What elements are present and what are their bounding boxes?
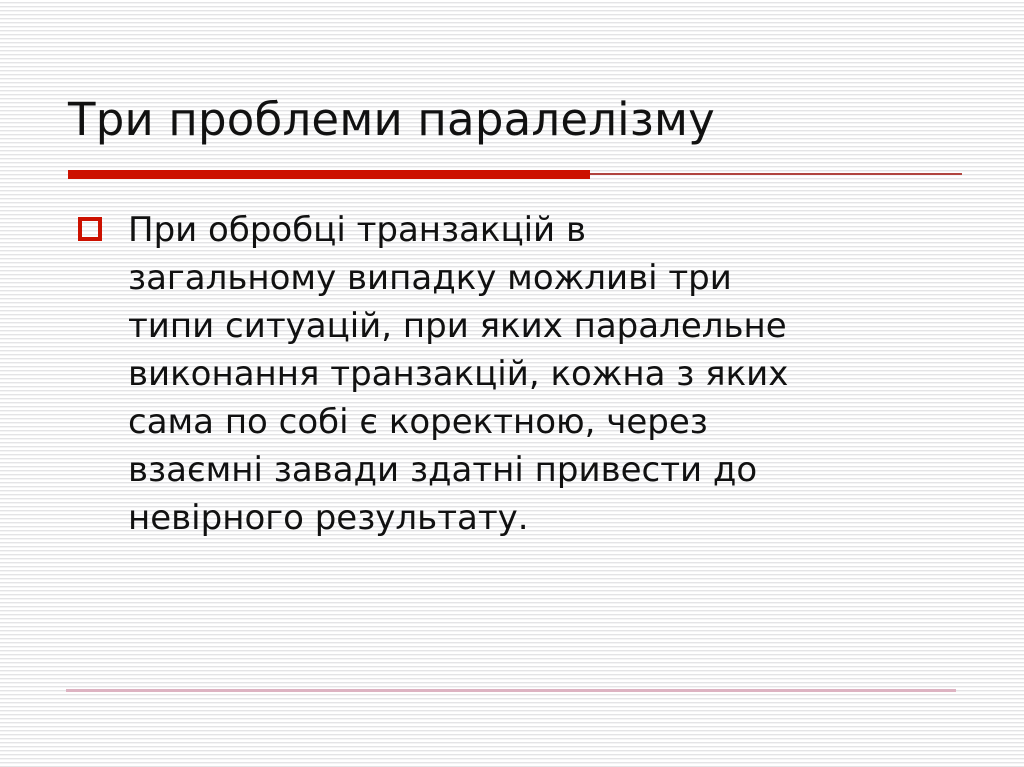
title-rule-thin-segment (590, 173, 962, 175)
title-block: Три проблеми паралелізму (68, 92, 968, 148)
bullet-line: невірного результату. (128, 494, 972, 542)
presentation-slide: Три проблеми паралелізму При обробці тра… (0, 0, 1024, 767)
bullet-line: При обробці транзакцій в (128, 206, 972, 254)
title-rule-thick-segment (68, 170, 590, 179)
bullet-line: типи ситуацій, при яких паралельне (128, 302, 972, 350)
red-square-bullet-icon (78, 217, 102, 241)
bullet-line: загальному випадку можливі три (128, 254, 972, 302)
footer-divider (66, 689, 956, 692)
bullet-paragraph: При обробці транзакцій в загальному випа… (72, 206, 972, 542)
list-item: При обробці транзакцій в загальному випа… (72, 206, 972, 542)
bullet-line: взаємні завади здатні привести до (128, 446, 972, 494)
bullet-line: виконання транзакцій, кожна з яких (128, 350, 972, 398)
page-title: Три проблеми паралелізму (68, 92, 968, 148)
bullet-line: сама по собі є коректною, через (128, 398, 972, 446)
body-content: При обробці транзакцій в загальному випа… (72, 206, 972, 542)
title-underline-rule (68, 170, 962, 179)
